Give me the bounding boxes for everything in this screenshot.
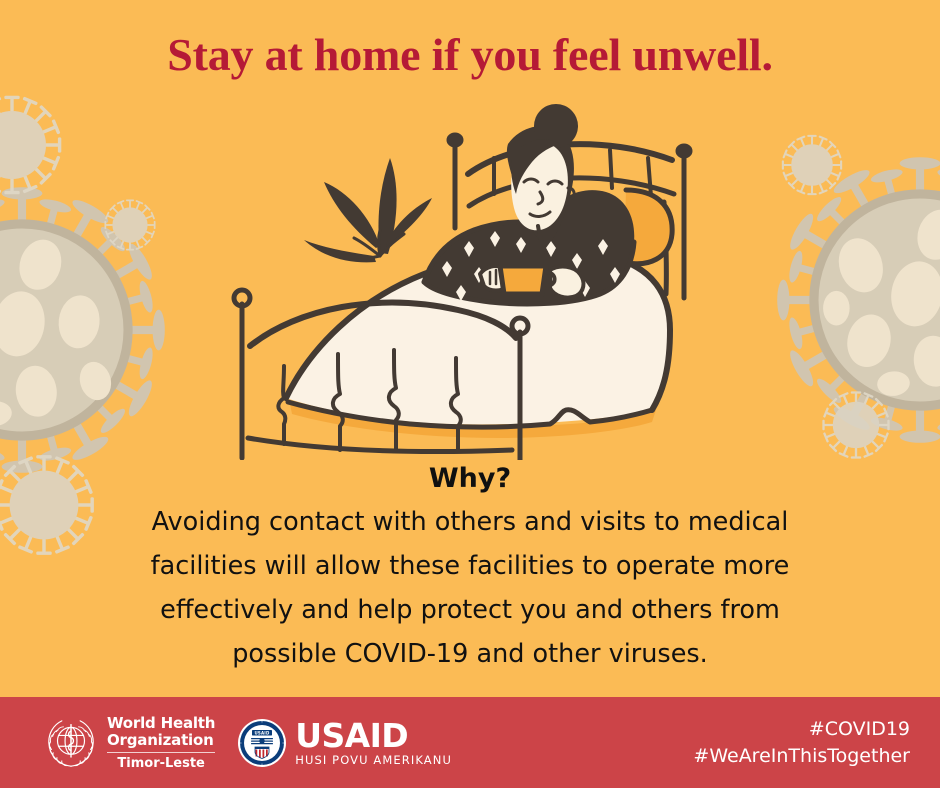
who-line-2: Organization [107, 732, 215, 749]
hashtag-group: #COVID19 #WeAreInThisTogether [693, 697, 910, 788]
virus-small-lowright [822, 391, 889, 458]
body-line: possible COVID-19 and other viruses. [90, 632, 850, 676]
who-country-label: Timor-Leste [107, 756, 215, 771]
who-logo-lockup: World Health Organization Timor-Leste [44, 715, 215, 771]
virus-small-topleft [0, 96, 61, 195]
hashtag-covid19: #COVID19 [809, 716, 910, 743]
usaid-brand-label: USAID [295, 719, 452, 753]
page-title: Stay at home if you feel unwell. [0, 28, 940, 82]
body-line: Avoiding contact with others and visits … [90, 500, 850, 544]
svg-text:USAID: USAID [255, 730, 271, 735]
who-emblem-icon [44, 716, 98, 770]
woman-sick-in-bed-illustration [228, 98, 712, 460]
virus-small-topright [782, 135, 842, 195]
usaid-seal-icon: USAID [237, 718, 287, 768]
usaid-tagline-label: HUSI POVU AMERIKANU [295, 753, 452, 767]
who-divider [107, 752, 215, 753]
usaid-wordmark: USAID HUSI POVU AMERIKANU [295, 719, 452, 767]
virus-large-left [0, 187, 165, 473]
virus-small-midleft [104, 199, 155, 250]
hashtag-weareinthistogether: #WeAreInThisTogether [693, 743, 910, 770]
body-line: effectively and help protect you and oth… [90, 588, 850, 632]
body-copy: Avoiding contact with others and visits … [90, 500, 850, 676]
usaid-logo-lockup: USAID [237, 718, 452, 768]
body-line: facilities will allow these facilities t… [90, 544, 850, 588]
who-wordmark: World Health Organization Timor-Leste [107, 715, 215, 771]
who-line-1: World Health [107, 715, 215, 732]
footer-bar: World Health Organization Timor-Leste [0, 697, 940, 788]
footer-logo-group: World Health Organization Timor-Leste [44, 697, 452, 788]
why-heading: Why? [0, 462, 940, 496]
virus-large-right [777, 157, 940, 443]
poster-canvas: Stay at home if you feel unwell. [0, 0, 940, 788]
